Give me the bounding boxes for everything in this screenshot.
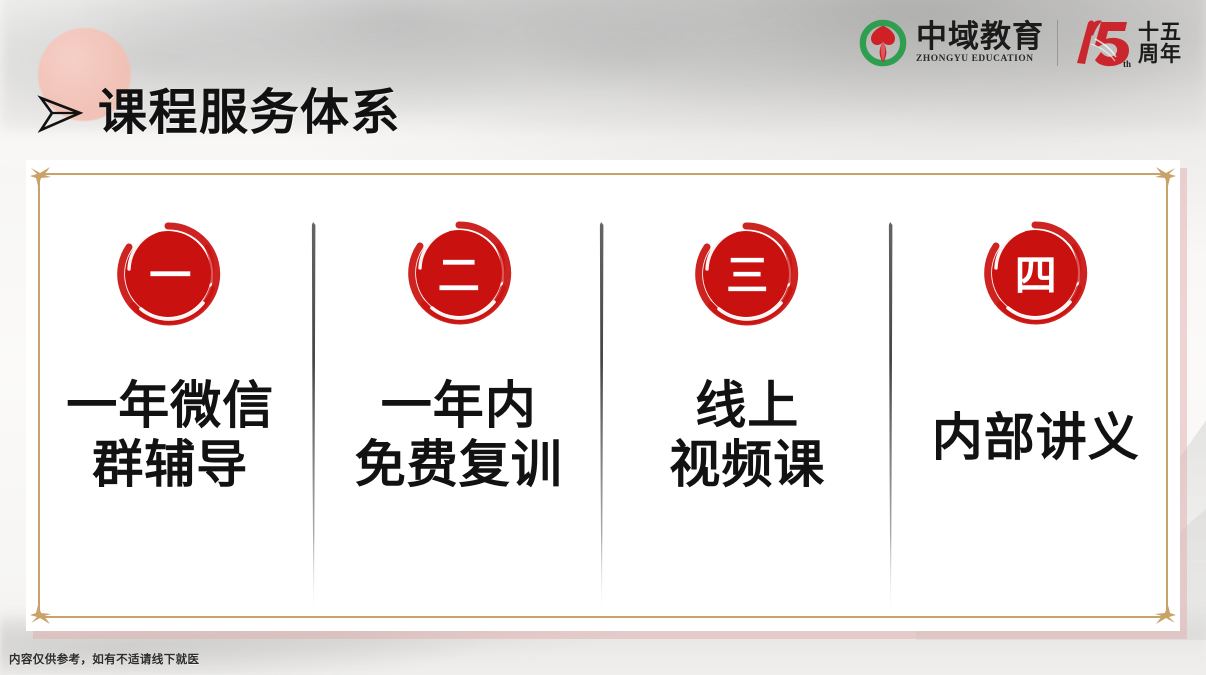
service-label-2-line2: 免费复训 (355, 436, 563, 495)
anniversary-line-1: 十五 (1138, 21, 1182, 43)
page-title-text: 课程服务体系 (98, 88, 401, 137)
service-label-2-line1: 一年内 (355, 377, 563, 436)
service-badge-1: 一 (111, 217, 229, 335)
service-label-1-line1: 一年微信 (66, 377, 274, 436)
brand-wordmark: 中域教育 ZHONGYU EDUCATION (916, 21, 1044, 64)
anniversary-badge: th 十五 周年 (1071, 17, 1182, 69)
brand-name-en: ZHONGYU EDUCATION (916, 55, 1044, 64)
service-label-3: 线上 视频课 (669, 377, 825, 495)
page-title: 课程服务体系 (36, 88, 401, 137)
zhongyu-logo-icon (859, 19, 907, 67)
service-label-2: 一年内 免费复训 (355, 377, 563, 495)
service-badge-3: 三 (688, 217, 806, 335)
service-label-4: 内部讲义 (932, 409, 1140, 468)
service-label-3-line2: 视频课 (669, 436, 825, 495)
service-column-3[interactable]: 三 线上 视频课 (603, 160, 892, 631)
service-label-1-line2: 群辅导 (66, 436, 274, 495)
service-label-3-line1: 线上 (669, 377, 825, 436)
service-badge-4: 四 (977, 217, 1095, 335)
service-columns: 一 一年微信 群辅导 (26, 160, 1180, 631)
anniversary-text: 十五 周年 (1138, 21, 1182, 66)
footer-disclaimer: 内容仅供参考，如有不适请线下就医 (9, 651, 199, 667)
service-column-1[interactable]: 一 一年微信 群辅导 (26, 160, 315, 631)
brand-divider (1057, 20, 1058, 66)
chevron-right-bullet-icon (36, 91, 84, 135)
service-index-1: 一 (149, 255, 191, 297)
svg-text:th: th (1123, 59, 1131, 69)
anniversary-line-2: 周年 (1138, 43, 1182, 65)
brand-logo: 中域教育 ZHONGYU EDUCATION th 十五 周年 (859, 12, 1182, 74)
service-index-3: 三 (726, 255, 768, 297)
service-label-1: 一年微信 群辅导 (66, 377, 274, 495)
slide-canvas: 中域教育 ZHONGYU EDUCATION th 十五 周年 (0, 0, 1206, 675)
service-column-2[interactable]: 二 一年内 免费复训 (315, 160, 604, 631)
brand-name-cn: 中域教育 (916, 21, 1044, 52)
service-badge-2: 二 (400, 217, 518, 335)
service-label-4-line1: 内部讲义 (932, 409, 1140, 468)
anniversary-15-icon: th (1071, 17, 1133, 69)
service-column-4[interactable]: 四 内部讲义 (892, 160, 1181, 631)
brand-primary: 中域教育 ZHONGYU EDUCATION (859, 19, 1044, 67)
service-index-4: 四 (1015, 255, 1057, 297)
service-index-2: 二 (438, 255, 480, 297)
